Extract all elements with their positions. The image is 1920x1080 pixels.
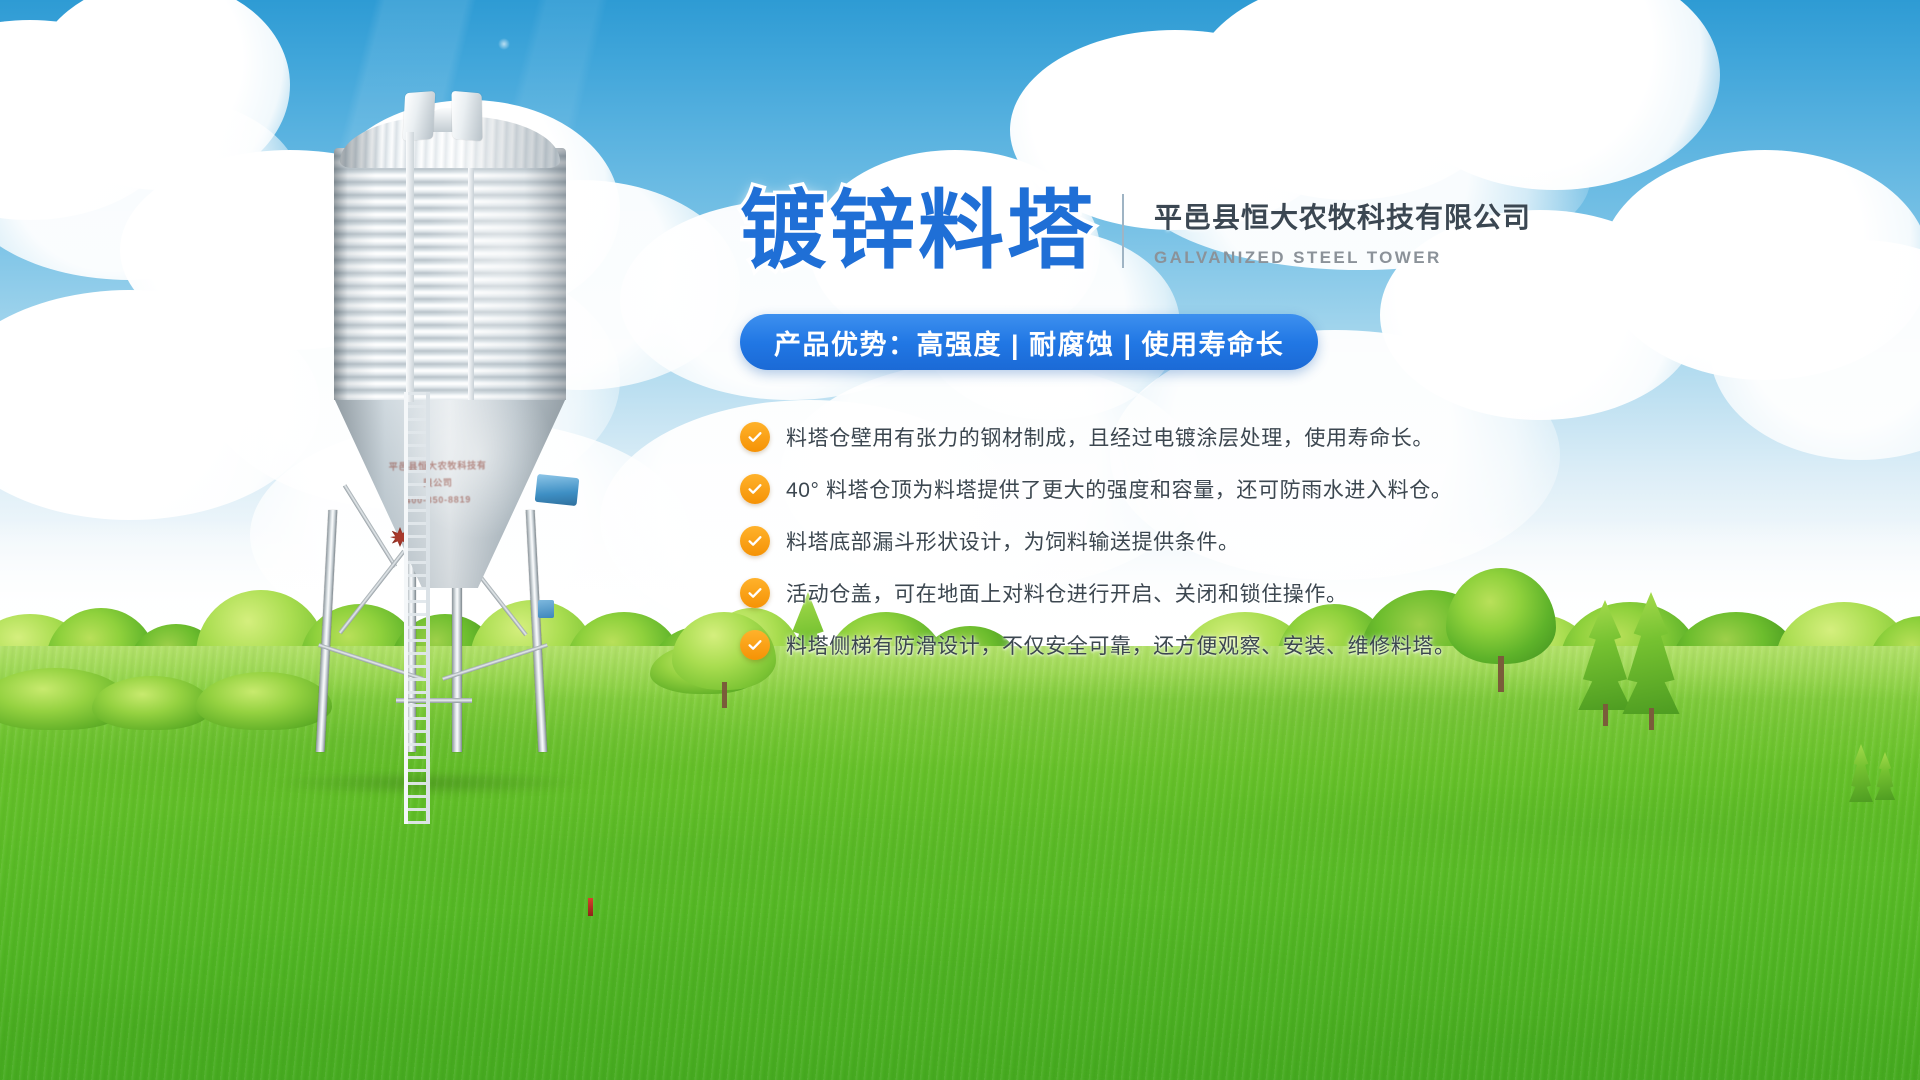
printed-phone-text: 400-850-8819 [386,491,490,510]
silo-blue-chute [535,474,580,506]
feature-text: 活动仓盖，可在地面上对料仓进行开启、关闭和锁住操作。 [786,578,1348,608]
feature-text: 40° 料塔仓顶为料塔提供了更大的强度和容量，还可防雨水进入料仓。 [786,474,1452,504]
lens-flare-dot [498,38,510,50]
company-english-subtitle: GALVANIZED STEEL TOWER [1154,248,1531,268]
list-item: 料塔侧梯有防滑设计，不仅安全可靠，还方便观察、安装、维修料塔。 [740,630,1870,660]
ground-marker-flag [588,898,593,916]
list-item: 40° 料塔仓顶为料塔提供了更大的强度和容量，还可防雨水进入料仓。 [740,474,1870,504]
page-title: 镀锌料塔 [740,188,1096,274]
silo-ground-shadow [270,770,590,796]
silo-cross-brace [338,550,405,634]
silo-ladder-upper-rail [406,132,414,402]
check-circle-icon [740,526,770,556]
company-name: 平邑县恒大农牧科技有限公司 [1154,196,1531,236]
list-item: 料塔仓壁用有张力的钢材制成，且经过电镀涂层处理，使用寿命长。 [740,422,1870,452]
silo-printed-branding: 平邑县恒大农牧科技有限公司 400-850-8819 [386,457,491,503]
title-divider [1122,194,1124,268]
silo-roof-flap-right [451,91,482,141]
feature-text: 料塔仓壁用有张力的钢材制成，且经过电镀涂层处理，使用寿命长。 [786,422,1434,452]
galvanized-feed-silo: 平邑县恒大农牧科技有限公司 400-850-8819 [300,92,600,752]
list-item: 活动仓盖，可在地面上对料仓进行开启、关闭和锁住操作。 [740,578,1870,608]
feature-list: 料塔仓壁用有张力的钢材制成，且经过电镀涂层处理，使用寿命长。 40° 料塔仓顶为… [740,422,1870,660]
banner-text-panel: 镀锌料塔 平邑县恒大农牧科技有限公司 GALVANIZED STEEL TOWE… [740,188,1870,682]
check-circle-icon [740,474,770,504]
silo-blue-fitting [538,600,554,618]
silo-vertical-seam [468,138,474,400]
feature-text: 料塔底部漏斗形状设计，为饲料输送提供条件。 [786,526,1240,556]
silo-side-ladder [404,392,430,824]
list-item: 料塔底部漏斗形状设计，为饲料输送提供条件。 [740,526,1870,556]
silo-leg [316,510,338,752]
silo-leg [526,510,548,752]
feature-text: 料塔侧梯有防滑设计，不仅安全可靠，还方便观察、安装、维修料塔。 [786,630,1456,660]
title-row: 镀锌料塔 平邑县恒大农牧科技有限公司 GALVANIZED STEEL TOWE… [740,188,1870,274]
printed-company-text: 平邑县恒大农牧科技有限公司 [386,457,491,493]
advantage-badge: 产品优势：高强度 | 耐腐蚀 | 使用寿命长 [740,314,1318,370]
check-circle-icon [740,422,770,452]
silo-corrugated-barrel [334,148,566,400]
banner-stage: 平邑县恒大农牧科技有限公司 400-850-8819 镀锌料塔 平邑县恒大农牧科… [0,0,1920,1080]
company-block: 平邑县恒大农牧科技有限公司 GALVANIZED STEEL TOWER [1154,196,1531,274]
check-circle-icon [740,578,770,608]
check-circle-icon [740,630,770,660]
